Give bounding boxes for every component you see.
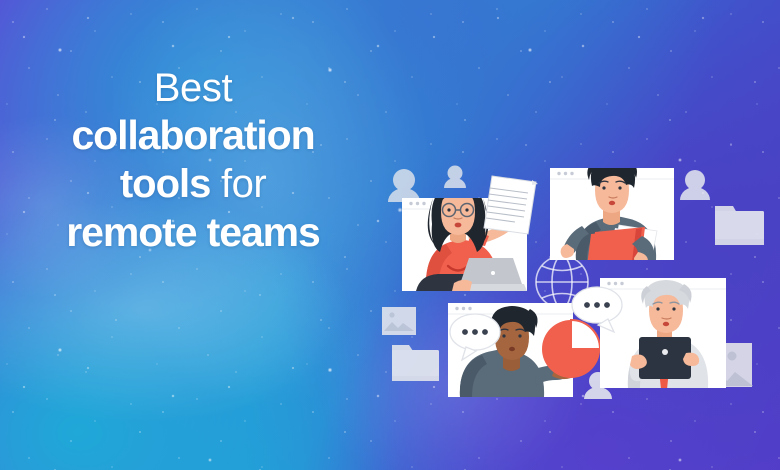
headline-line-2: collaboration xyxy=(28,115,358,156)
video-panel-man-piechart xyxy=(448,303,600,397)
folder-icon xyxy=(715,206,764,245)
image-placeholder-icon xyxy=(382,307,416,335)
folder-icon xyxy=(392,345,439,381)
avatar-icon xyxy=(388,169,420,202)
headline-line-3: tools for xyxy=(28,164,358,204)
window-dots xyxy=(455,307,471,310)
window-dots xyxy=(607,282,623,285)
document-icon xyxy=(484,176,538,234)
headline-line-1: Best xyxy=(28,68,358,108)
avatar-icon xyxy=(444,166,466,189)
headline-line-4: remote teams xyxy=(28,212,358,253)
headline-line-3-bold: tools xyxy=(120,162,211,206)
window-dots xyxy=(409,202,425,205)
window-dots xyxy=(557,172,573,175)
avatar-icon xyxy=(680,170,710,200)
remote-team-illustration xyxy=(370,140,780,440)
headline-block: Best collaboration tools for remote team… xyxy=(28,68,358,253)
headline-line-3-rest: for xyxy=(210,162,266,206)
pie-chart-icon xyxy=(542,320,600,378)
banner-canvas: Best collaboration tools for remote team… xyxy=(0,0,780,470)
